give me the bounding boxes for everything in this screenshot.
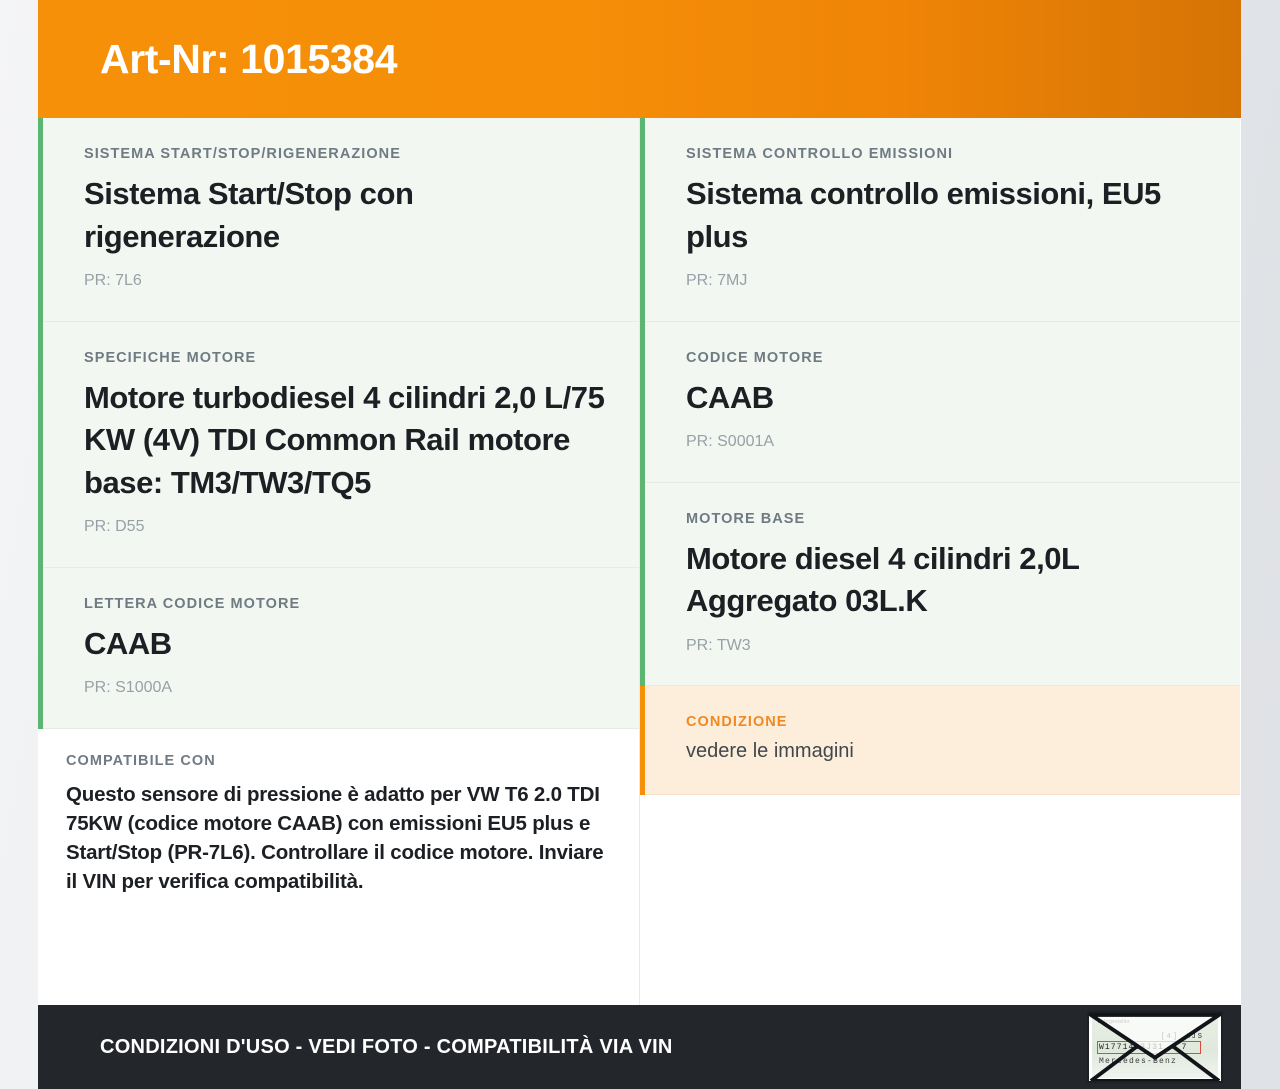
spec-value: CAAB xyxy=(84,623,605,665)
spec-card: CODICE MOTORE CAAB PR: S0001A xyxy=(640,322,1240,483)
page-title: Art-Nr: 1015384 xyxy=(38,39,397,80)
spec-label: SISTEMA CONTROLLO EMISSIONI xyxy=(686,146,1206,163)
spec-pr-code: PR: D55 xyxy=(84,517,605,536)
spec-pr-code: PR: 7L6 xyxy=(84,271,605,290)
page-header: Art-Nr: 1015384 xyxy=(38,0,1241,118)
vin-document-thumbnail[interactable]: Fahrgestellnr. [4] AJS W1771463J31 4 7 M… xyxy=(1087,1011,1223,1083)
product-detail-sheet: Art-Nr: 1015384 SISTEMA START/STOP/RIGEN… xyxy=(38,0,1241,1089)
spec-label: MOTORE BASE xyxy=(686,511,1206,528)
footer-terms-text: CONDIZIONI D'USO - VEDI FOTO - COMPATIBI… xyxy=(38,1036,673,1059)
spec-column-left: SISTEMA START/STOP/RIGENERAZIONE Sistema… xyxy=(38,118,640,1005)
compatibility-note: COMPATIBILE CON Questo sensore di pressi… xyxy=(38,729,639,925)
envelope-icon xyxy=(1089,1013,1221,1083)
condition-card: CONDIZIONE vedere le immagini xyxy=(640,686,1240,795)
spec-label: LETTERA CODICE MOTORE xyxy=(84,596,605,613)
condition-label: CONDIZIONE xyxy=(686,714,1206,731)
spec-pr-code: PR: TW3 xyxy=(686,636,1206,655)
page-footer: CONDIZIONI D'USO - VEDI FOTO - COMPATIBI… xyxy=(38,1005,1241,1089)
spec-card: SPECIFICHE MOTORE Motore turbodiesel 4 c… xyxy=(38,322,639,568)
spec-label: SISTEMA START/STOP/RIGENERAZIONE xyxy=(84,146,605,163)
spec-value: Motore diesel 4 cilindri 2,0L Aggregato … xyxy=(686,538,1206,623)
condition-value: vedere le immagini xyxy=(686,738,1206,764)
spec-pr-code: PR: S1000A xyxy=(84,678,605,697)
spec-card: LETTERA CODICE MOTORE CAAB PR: S1000A xyxy=(38,568,639,729)
spec-value: CAAB xyxy=(686,377,1206,419)
spec-card: MOTORE BASE Motore diesel 4 cilindri 2,0… xyxy=(640,483,1240,687)
spec-card: SISTEMA CONTROLLO EMISSIONI Sistema cont… xyxy=(640,118,1240,322)
spec-label: SPECIFICHE MOTORE xyxy=(84,350,605,367)
left-column-filler xyxy=(38,925,639,1005)
spec-value: Motore turbodiesel 4 cilindri 2,0 L/75 K… xyxy=(84,377,605,504)
compatibility-text: Questo sensore di pressione è adatto per… xyxy=(66,780,605,897)
spec-pr-code: PR: 7MJ xyxy=(686,271,1206,290)
spec-value: Sistema controllo emissioni, EU5 plus xyxy=(686,173,1206,258)
compatibility-label: COMPATIBILE CON xyxy=(66,753,605,769)
spec-value: Sistema Start/Stop con rigenerazione xyxy=(84,173,605,258)
spec-card: SISTEMA START/STOP/RIGENERAZIONE Sistema… xyxy=(38,118,639,322)
spec-column-right: SISTEMA CONTROLLO EMISSIONI Sistema cont… xyxy=(640,118,1240,1005)
spec-label: CODICE MOTORE xyxy=(686,350,1206,367)
right-column-filler xyxy=(640,795,1240,1005)
spec-pr-code: PR: S0001A xyxy=(686,432,1206,451)
spec-grid: SISTEMA START/STOP/RIGENERAZIONE Sistema… xyxy=(38,118,1241,1005)
